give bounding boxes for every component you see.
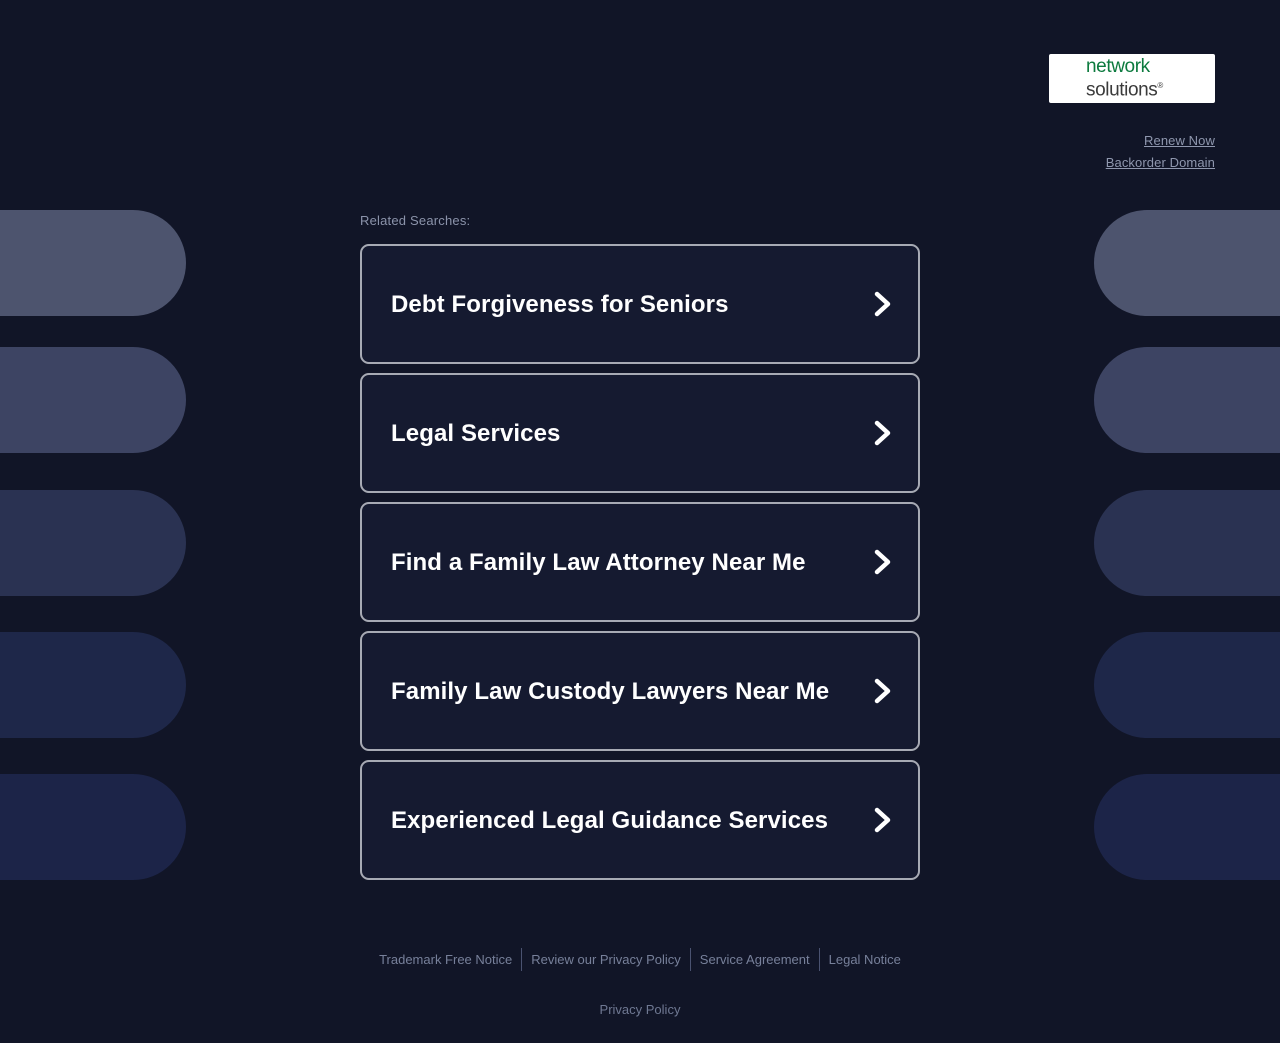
network-solutions-logo[interactable]: network solutions® bbox=[1049, 54, 1215, 103]
legal-notice-link[interactable]: Legal Notice bbox=[820, 948, 910, 971]
review-privacy-policy-link[interactable]: Review our Privacy Policy bbox=[522, 948, 691, 971]
related-search-title: Family Law Custody Lawyers Near Me bbox=[391, 677, 829, 706]
footer-privacy-row: Privacy Policy bbox=[0, 1001, 1280, 1019]
related-search-title: Experienced Legal Guidance Services bbox=[391, 806, 828, 835]
privacy-policy-link[interactable]: Privacy Policy bbox=[600, 1002, 681, 1017]
chevron-right-icon bbox=[872, 547, 894, 577]
logo-text-network: network bbox=[1086, 57, 1215, 76]
related-search-title: Legal Services bbox=[391, 419, 561, 448]
decorative-pill bbox=[1094, 632, 1280, 738]
related-search-title: Find a Family Law Attorney Near Me bbox=[391, 548, 806, 577]
decorative-pill bbox=[0, 490, 186, 596]
related-search-title: Debt Forgiveness for Seniors bbox=[391, 290, 729, 319]
page-footer: Trademark Free Notice Review our Privacy… bbox=[0, 948, 1280, 1019]
related-searches-label: Related Searches: bbox=[360, 212, 920, 230]
related-search-card[interactable]: Debt Forgiveness for Seniors bbox=[360, 244, 920, 364]
chevron-right-icon bbox=[872, 289, 894, 319]
decorative-pill bbox=[0, 210, 186, 316]
decorative-pill bbox=[0, 632, 186, 738]
trademark-free-notice-link[interactable]: Trademark Free Notice bbox=[370, 948, 522, 971]
registered-trademark-icon: ® bbox=[1157, 81, 1163, 90]
chevron-right-icon bbox=[872, 805, 894, 835]
decorative-pill bbox=[1094, 490, 1280, 596]
related-searches-section: Related Searches: Debt Forgiveness for S… bbox=[360, 212, 920, 880]
decorative-pills-left bbox=[0, 0, 300, 1043]
decorative-pill bbox=[1094, 774, 1280, 880]
decorative-pill bbox=[1094, 210, 1280, 316]
header-links: Renew Now Backorder Domain bbox=[1106, 130, 1215, 174]
parked-domain-page: network solutions® Renew Now Backorder D… bbox=[0, 0, 1280, 1043]
chevron-right-icon bbox=[872, 676, 894, 706]
chevron-right-icon bbox=[872, 418, 894, 448]
related-search-card[interactable]: Legal Services bbox=[360, 373, 920, 493]
renew-now-link[interactable]: Renew Now bbox=[1106, 130, 1215, 152]
related-search-card[interactable]: Find a Family Law Attorney Near Me bbox=[360, 502, 920, 622]
related-search-card[interactable]: Experienced Legal Guidance Services bbox=[360, 760, 920, 880]
logo-text-solutions: solutions® bbox=[1086, 76, 1215, 100]
backorder-domain-link[interactable]: Backorder Domain bbox=[1106, 152, 1215, 174]
related-searches-list: Debt Forgiveness for Seniors Legal Servi… bbox=[360, 244, 920, 880]
logo-solutions-word: solutions bbox=[1086, 79, 1157, 100]
decorative-pill bbox=[0, 774, 186, 880]
decorative-pill bbox=[0, 347, 186, 453]
footer-link-row: Trademark Free Notice Review our Privacy… bbox=[0, 948, 1280, 971]
related-search-card[interactable]: Family Law Custody Lawyers Near Me bbox=[360, 631, 920, 751]
service-agreement-link[interactable]: Service Agreement bbox=[691, 948, 820, 971]
decorative-pill bbox=[1094, 347, 1280, 453]
